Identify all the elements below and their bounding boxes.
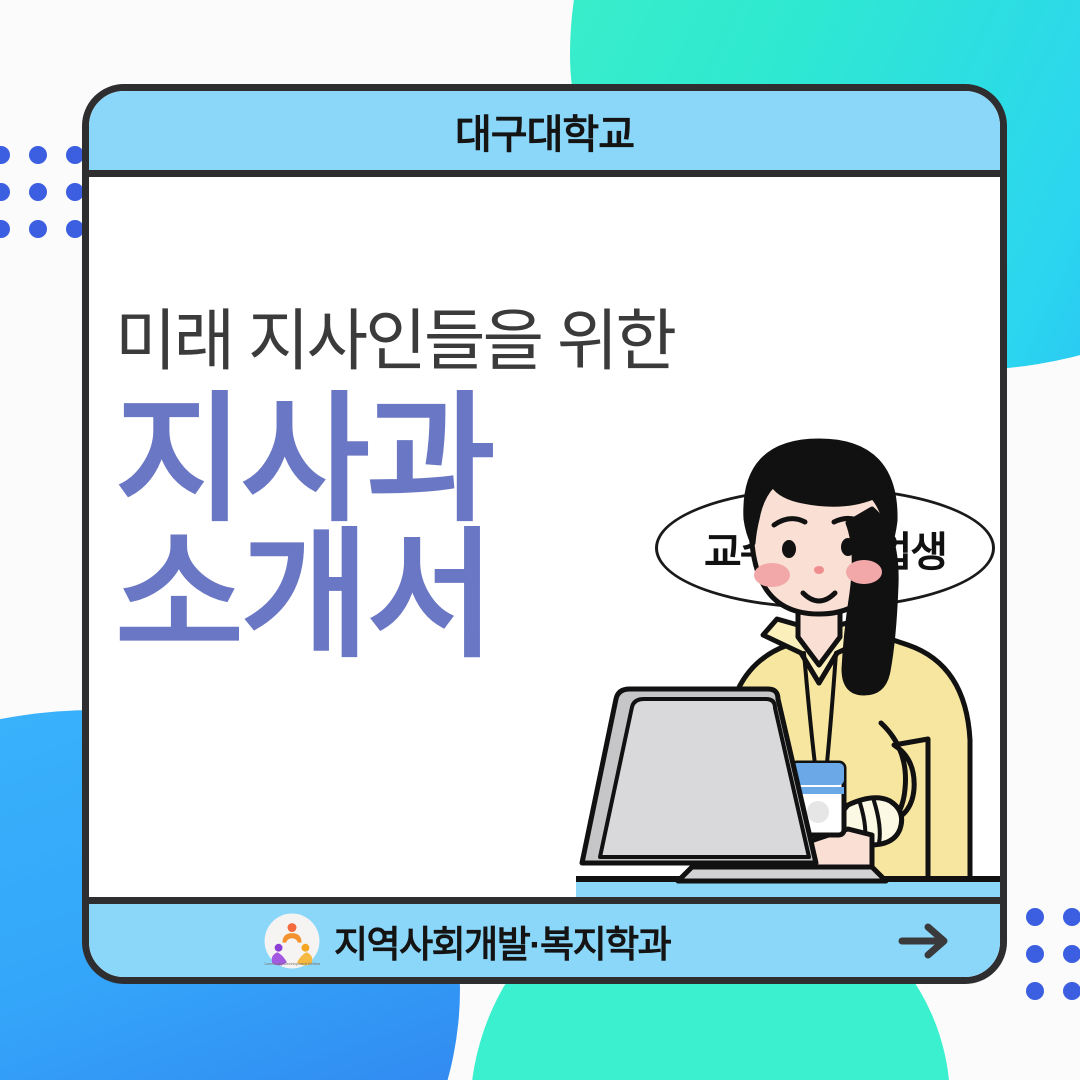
logo-center bbox=[286, 938, 298, 950]
logo-caption: Community Development Welfare bbox=[264, 961, 320, 966]
blush-left bbox=[754, 563, 790, 587]
card-footer: Community Development Welfare 지역사회개발·복지학… bbox=[89, 897, 1000, 977]
headline-title-line1: 지사과 bbox=[115, 381, 492, 538]
department-label: 지역사회개발·복지학과 bbox=[334, 914, 670, 968]
card-header: 대구대학교 bbox=[89, 91, 1000, 177]
logo-head-top bbox=[288, 923, 297, 932]
laptop-screen bbox=[600, 699, 809, 857]
id-badge-top bbox=[792, 763, 844, 785]
blush-right bbox=[846, 560, 882, 584]
poster-card: 대구대학교 미래 지사인들을 위한 지사과 소개서 교수님&졸업생 bbox=[82, 84, 1007, 984]
university-title: 대구대학교 bbox=[455, 102, 634, 160]
eye-left bbox=[782, 540, 796, 558]
dot bbox=[0, 220, 10, 238]
dot bbox=[1026, 908, 1044, 926]
woman-working-on-laptop-illustration bbox=[576, 427, 1006, 897]
dot bbox=[1026, 982, 1044, 1000]
dot bbox=[29, 146, 47, 164]
eye-right bbox=[841, 538, 855, 556]
ponytail bbox=[844, 509, 896, 693]
dot bbox=[1063, 982, 1080, 1000]
dot bbox=[0, 146, 10, 164]
logo-head-right bbox=[302, 943, 310, 951]
dot bbox=[29, 183, 47, 201]
arrow-right-icon[interactable] bbox=[898, 921, 952, 961]
card-body: 미래 지사인들을 위한 지사과 소개서 교수님&졸업생 bbox=[89, 177, 1000, 897]
dot-grid-right bbox=[1026, 908, 1080, 1000]
laptop-base bbox=[678, 867, 886, 881]
community-development-welfare-logo: Community Development Welfare bbox=[264, 913, 320, 969]
dot bbox=[1063, 908, 1080, 926]
dot bbox=[29, 220, 47, 238]
logo-head-left bbox=[275, 943, 283, 951]
headline-subtitle: 미래 지사인들을 위한 bbox=[115, 287, 735, 384]
dot bbox=[0, 183, 10, 201]
dot-grid-left bbox=[0, 146, 84, 238]
id-badge-photo bbox=[807, 801, 829, 823]
nose bbox=[814, 566, 824, 574]
dot bbox=[1063, 945, 1080, 963]
dot bbox=[1026, 945, 1044, 963]
